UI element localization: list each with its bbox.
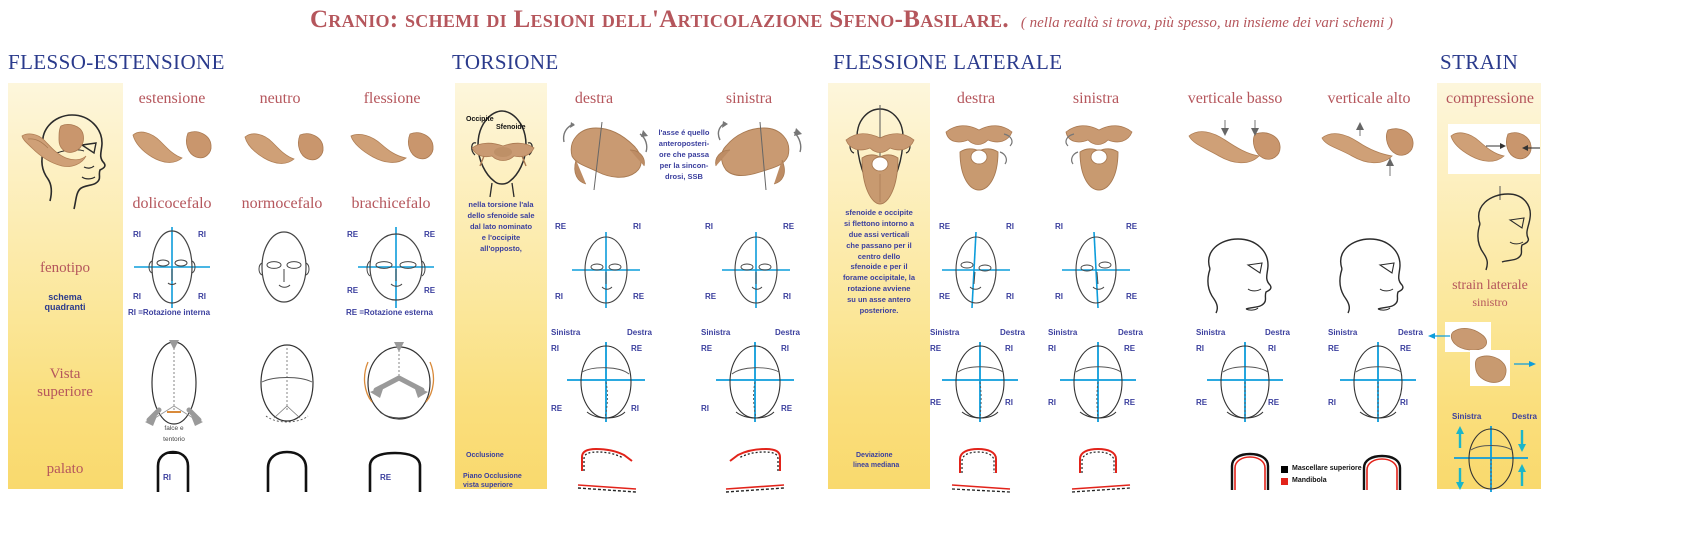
quadrant-label-fe-dolico-bl: RI — [133, 292, 141, 301]
quadrant-fl-sinistra-tr: RE — [1126, 222, 1137, 231]
arrow-strain-left — [1428, 330, 1450, 342]
sup-quadrant-fl-valto-tl: RE — [1328, 344, 1339, 353]
column-title-fe-estensione: estensione — [134, 90, 210, 108]
legend-ri-rotazione-interna: RI =Rotazione interna — [128, 308, 210, 317]
quadrant-fl-destra-tr: RI — [1006, 222, 1014, 231]
sup-head-fl-vbasso-right: Destra — [1265, 328, 1290, 337]
fl-note-line-7: forame occipitale, la — [832, 273, 926, 284]
strain-caption-line1: strain laterale — [1443, 278, 1537, 294]
occlusion-plane-torsione-destra — [574, 447, 640, 493]
fl-note-line-8: rotazione avviene — [832, 284, 926, 295]
falce-tentorio-label-line2: tentorio — [135, 436, 213, 444]
column-subtitle-fe-normocefalo: normocefalo — [238, 195, 326, 213]
torsione-note-text: nella torsione l'ala dello sfenoide sale… — [457, 200, 545, 254]
column-title-fl-verticale-alto: verticale alto — [1315, 90, 1423, 108]
torsione-note-line-4: e l'occipite — [457, 233, 545, 244]
row-label-vista-superiore-line1: Vista — [5, 365, 125, 384]
label-occipite: Occipite — [466, 116, 494, 123]
strain-caption-line2: sinistro — [1443, 295, 1537, 310]
palate-shape-normocefalo — [258, 450, 316, 492]
face-diagram-normocefalo — [244, 225, 324, 310]
sup-head-fl-valto-left: Sinistra — [1328, 328, 1357, 337]
column-title-fl-sinistra: sinistra — [1060, 90, 1132, 108]
superior-view-normocefalo — [248, 338, 326, 428]
sup-quadrant-torsione-destra-tr: RE — [631, 344, 642, 353]
sup-head-fl-destra-right: Destra — [1000, 328, 1025, 337]
quadrant-label-fe-dolico-br: RI — [198, 292, 206, 301]
column-title-torsione-sinistra: sinistra — [713, 90, 785, 108]
fl-note-line-3: due assi verticali — [832, 230, 926, 241]
sup-head-torsione-sinistra-left: Sinistra — [701, 328, 730, 337]
sup-quadrant-torsione-sinistra-tr: RI — [781, 344, 789, 353]
sup-quadrant-torsione-destra-tl: RI — [551, 344, 559, 353]
profile-head-strain-compressione — [1470, 186, 1530, 270]
palate-shape-dolicocefalo — [148, 450, 198, 492]
quadrant-torsione-destra-bl: RI — [555, 292, 563, 301]
title-subtitle-text: ( nella realtà si trova, più spesso, un … — [1021, 15, 1393, 31]
sup-head-torsione-sinistra-right: Destra — [775, 328, 800, 337]
column-title-fe-flessione: flessione — [352, 90, 432, 108]
quadrant-fl-destra-br: RI — [1006, 292, 1014, 301]
falce-tentorio-label-line1: falce e — [135, 425, 213, 433]
quadrant-torsione-sinistra-tr: RE — [783, 222, 794, 231]
title-main-text: Cranio: schemi di Lesioni dell'Articolaz… — [310, 6, 1009, 33]
row-label-piano-occlusione-line2: vista superiore — [463, 482, 513, 489]
quadrant-fl-sinistra-br: RE — [1126, 292, 1137, 301]
sup-head-fl-sinistra-left: Sinistra — [1048, 328, 1077, 337]
sup-quadrant-fl-sinistra-br: RE — [1124, 398, 1135, 407]
quadrant-torsione-sinistra-tl: RI — [705, 222, 713, 231]
legend-label-mascellare-superiore: Mascellare superiore — [1292, 465, 1362, 472]
section-heading-flessione-laterale: FLESSIONE LATERALE — [833, 50, 1062, 75]
sup-head-strain-left: Sinistra — [1452, 412, 1481, 421]
bone-sphenoid-occiput-frontal — [464, 134, 542, 176]
sup-head-fl-sinistra-right: Destra — [1118, 328, 1143, 337]
fl-note-line-4: che passano per il — [832, 241, 926, 252]
quadrant-label-fe-brachi-bl: RE — [347, 286, 358, 295]
section-heading-torsione: TORSIONE — [452, 50, 559, 75]
sup-quadrant-fl-sinistra-bl: RI — [1048, 398, 1056, 407]
superior-view-strain — [1452, 424, 1530, 494]
quadrant-label-fe-brachi-br: RE — [424, 286, 435, 295]
column-title-torsione-destra: destra — [558, 90, 630, 108]
quadrant-torsione-sinistra-bl: RE — [705, 292, 716, 301]
column-subtitle-fe-dolicocefalo: dolicocefalo — [128, 195, 216, 213]
occlusion-plane-torsione-sinistra — [722, 447, 788, 493]
bone-pair-estensione — [130, 125, 215, 175]
sup-head-fl-vbasso-left: Sinistra — [1196, 328, 1225, 337]
quadrant-fl-destra-tl: RE — [939, 222, 950, 231]
occlusion-plane-fl-verticale-alto — [1358, 452, 1406, 492]
fl-note-line-2: si flettono intorno a — [832, 219, 926, 230]
bone-sphenoid-profile — [55, 120, 89, 160]
arrow-strain-right — [1512, 358, 1536, 370]
column-subtitle-fe-brachicefalo: brachicefalo — [344, 195, 438, 213]
quadrant-fl-sinistra-bl: RI — [1055, 292, 1063, 301]
row-label-palato: palato — [5, 460, 125, 479]
column-title-strain-compressione: compressione — [1444, 90, 1536, 108]
legend-re-rotazione-esterna: RE =Rotazione esterna — [346, 308, 433, 317]
profile-head-verticale-basso — [1190, 235, 1280, 313]
face-quadrant-fl-sinistra — [1060, 230, 1132, 310]
section-heading-strain: STRAIN — [1440, 50, 1518, 75]
profile-head-verticale-alto — [1322, 235, 1412, 313]
sup-quadrant-fl-vbasso-br: RE — [1268, 398, 1279, 407]
palate-shape-brachicefalo — [364, 450, 426, 492]
sup-quadrant-fl-destra-tl: RE — [930, 344, 941, 353]
sup-head-fl-destra-left: Sinistra — [930, 328, 959, 337]
legend-swatch-mandibola — [1281, 478, 1288, 485]
sup-quadrant-torsione-sinistra-br: RE — [781, 404, 792, 413]
row-label-deviazione-line1: Deviazione — [856, 452, 893, 459]
bone-pair-neutro — [242, 125, 327, 175]
face-quadrant-torsione-sinistra — [720, 230, 792, 310]
sup-quadrant-fl-vbasso-bl: RE — [1196, 398, 1207, 407]
occlusion-plane-fl-verticale-basso — [1226, 452, 1274, 492]
row-label-piano-occlusione-line1: Piano Occlusione — [463, 473, 522, 480]
torsione-note-line-1: nella torsione l'ala — [457, 200, 545, 211]
bone-pair-flessione — [348, 128, 436, 176]
section-heading-flesso-estensione: FLESSO-ESTENSIONE — [8, 50, 225, 75]
sup-quadrant-fl-vbasso-tr: RI — [1268, 344, 1276, 353]
sup-quadrant-fl-vbasso-tl: RI — [1196, 344, 1204, 353]
quadrant-torsione-destra-tl: RE — [555, 222, 566, 231]
sup-quadrant-fl-destra-br: RI — [1005, 398, 1013, 407]
row-label-occlusione: Occlusione — [466, 452, 504, 459]
sup-head-strain-right: Destra — [1512, 412, 1537, 421]
quadrant-torsione-destra-br: RE — [633, 292, 644, 301]
quadrant-label-fe-dolico-tr: RI — [198, 230, 206, 239]
palate-label-dolicocefalo: RI — [163, 473, 171, 482]
sup-quadrant-fl-valto-tr: RE — [1400, 344, 1411, 353]
row-label-fenotipo: fenotipo — [5, 259, 125, 278]
fl-note-line-1: sfenoide e occipite — [832, 208, 926, 219]
sup-quadrant-fl-sinistra-tr: RE — [1124, 344, 1135, 353]
sup-quadrant-torsione-sinistra-tl: RE — [701, 344, 712, 353]
column-title-fl-verticale-basso: verticale basso — [1180, 90, 1290, 108]
superior-view-dolicocefalo — [135, 338, 213, 428]
sup-quadrant-fl-valto-bl: RI — [1328, 398, 1336, 407]
quadrant-fl-destra-bl: RE — [939, 292, 950, 301]
occlusion-plane-fl-sinistra — [1068, 447, 1134, 493]
quadrant-label-fe-dolico-tl: RI — [133, 230, 141, 239]
legend-swatch-mascellare-superiore — [1281, 466, 1288, 473]
bone-compressione — [1448, 124, 1542, 176]
fl-note-line-9: su un asse antero — [832, 295, 926, 306]
bone-flessione-laterale-sinistra — [1060, 120, 1138, 192]
face-quadrant-fl-destra — [940, 230, 1012, 310]
bone-strain-lateral-bottom — [1472, 352, 1510, 386]
sup-quadrant-torsione-destra-bl: RE — [551, 404, 562, 413]
fl-note-line-6: sfenoide e per il — [832, 262, 926, 273]
sup-head-torsione-destra-right: Destra — [627, 328, 652, 337]
palate-label-brachicefalo: RE — [380, 473, 391, 482]
torsione-note-line-2: dello sfenoide sale — [457, 211, 545, 222]
label-sfenoide: Sfenoide — [496, 124, 526, 131]
sup-quadrant-fl-destra-bl: RE — [930, 398, 941, 407]
bone-flessione-laterale-destra — [940, 120, 1018, 192]
bone-strain-lateral-top — [1447, 324, 1491, 352]
quadrant-label-fe-brachi-tr: RE — [424, 230, 435, 239]
flessione-laterale-note-text: sfenoide e occipite si flettono intorno … — [832, 208, 926, 317]
torsione-note-line-3: dal lato nominato — [457, 222, 545, 233]
bone-torsione-sinistra — [710, 120, 805, 192]
sup-quadrant-fl-destra-tr: RI — [1005, 344, 1013, 353]
superior-view-brachicefalo — [358, 338, 440, 428]
quadrant-label-fe-brachi-tl: RE — [347, 230, 358, 239]
sup-head-torsione-destra-left: Sinistra — [551, 328, 580, 337]
row-label-deviazione-line2: linea mediana — [853, 462, 899, 469]
occlusion-plane-fl-destra — [948, 447, 1014, 493]
sup-quadrant-fl-valto-br: RI — [1400, 398, 1408, 407]
sup-quadrant-torsione-destra-br: RI — [631, 404, 639, 413]
column-title-fl-destra: destra — [940, 90, 1012, 108]
fl-note-line-5: centro dello — [832, 252, 926, 263]
legend-label-mandibola: Mandibola — [1292, 477, 1327, 484]
bone-verticale-alto — [1318, 118, 1418, 188]
bone-verticale-basso — [1185, 118, 1285, 188]
torsione-note-line-5: all'opposto, — [457, 244, 545, 255]
face-quadrant-torsione-destra — [570, 230, 642, 310]
row-label-schema-quadranti-line2: quadranti — [5, 302, 125, 314]
fl-note-line-10: posteriore. — [832, 306, 926, 317]
quadrant-torsione-destra-tr: RI — [633, 222, 641, 231]
quadrant-fl-sinistra-tl: RI — [1055, 222, 1063, 231]
row-label-vista-superiore-line2: superiore — [5, 383, 125, 402]
bone-torsione-destra — [556, 120, 651, 192]
column-title-fe-neutro: neutro — [245, 90, 315, 108]
bone-sphenoid-occiput-superior — [842, 124, 920, 210]
quadrant-torsione-sinistra-br: RI — [783, 292, 791, 301]
sup-quadrant-torsione-sinistra-bl: RI — [701, 404, 709, 413]
sup-head-fl-valto-right: Destra — [1398, 328, 1423, 337]
sup-quadrant-fl-sinistra-tl: RI — [1048, 344, 1056, 353]
page-title: Cranio: schemi di Lesioni dell'Articolaz… — [0, 6, 1703, 40]
